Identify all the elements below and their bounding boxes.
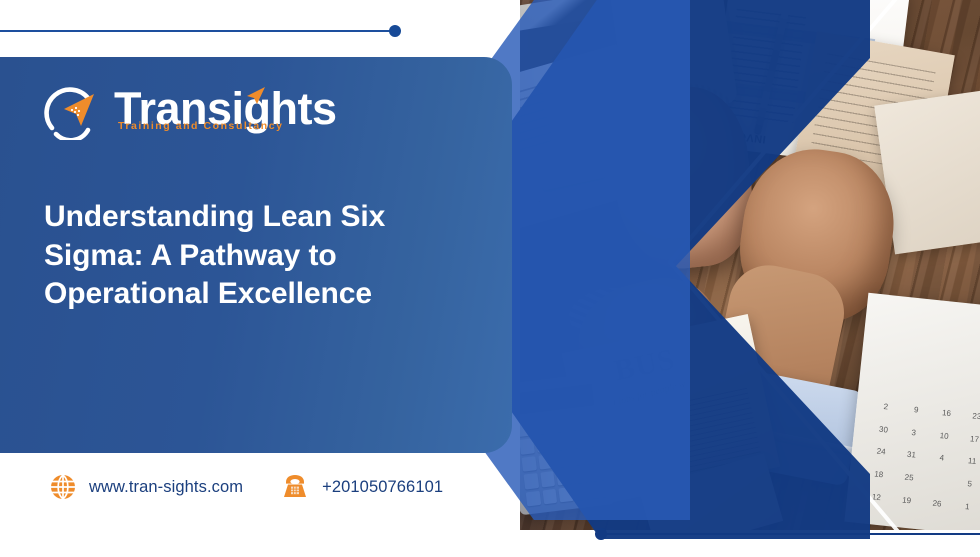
circular-arrow-cursor-logo-icon [44,84,102,140]
bottom-decor-dot [595,528,607,540]
poster-canvas: BUS t jobs for people w 2916233031017243… [0,0,980,557]
top-decor-line [0,30,391,32]
contact-bar: www.tran-sights.com +201050766101 [50,474,443,500]
phone-label: +201050766101 [322,478,443,497]
website-contact[interactable]: www.tran-sights.com [50,474,243,500]
top-decor-dot [389,25,401,37]
website-label: www.tran-sights.com [89,478,243,497]
brand-logo[interactable]: Transights Training and Consultancy [44,82,384,144]
bottom-decor-line [600,533,980,535]
phone-contact[interactable]: +201050766101 [281,474,443,500]
cursor-accent-icon [245,86,267,106]
telephone-icon [281,474,309,500]
globe-icon [50,474,76,500]
page-title: Understanding Lean Six Sigma: A Pathway … [44,198,444,314]
brand-tagline: Training and Consultancy [118,120,284,132]
